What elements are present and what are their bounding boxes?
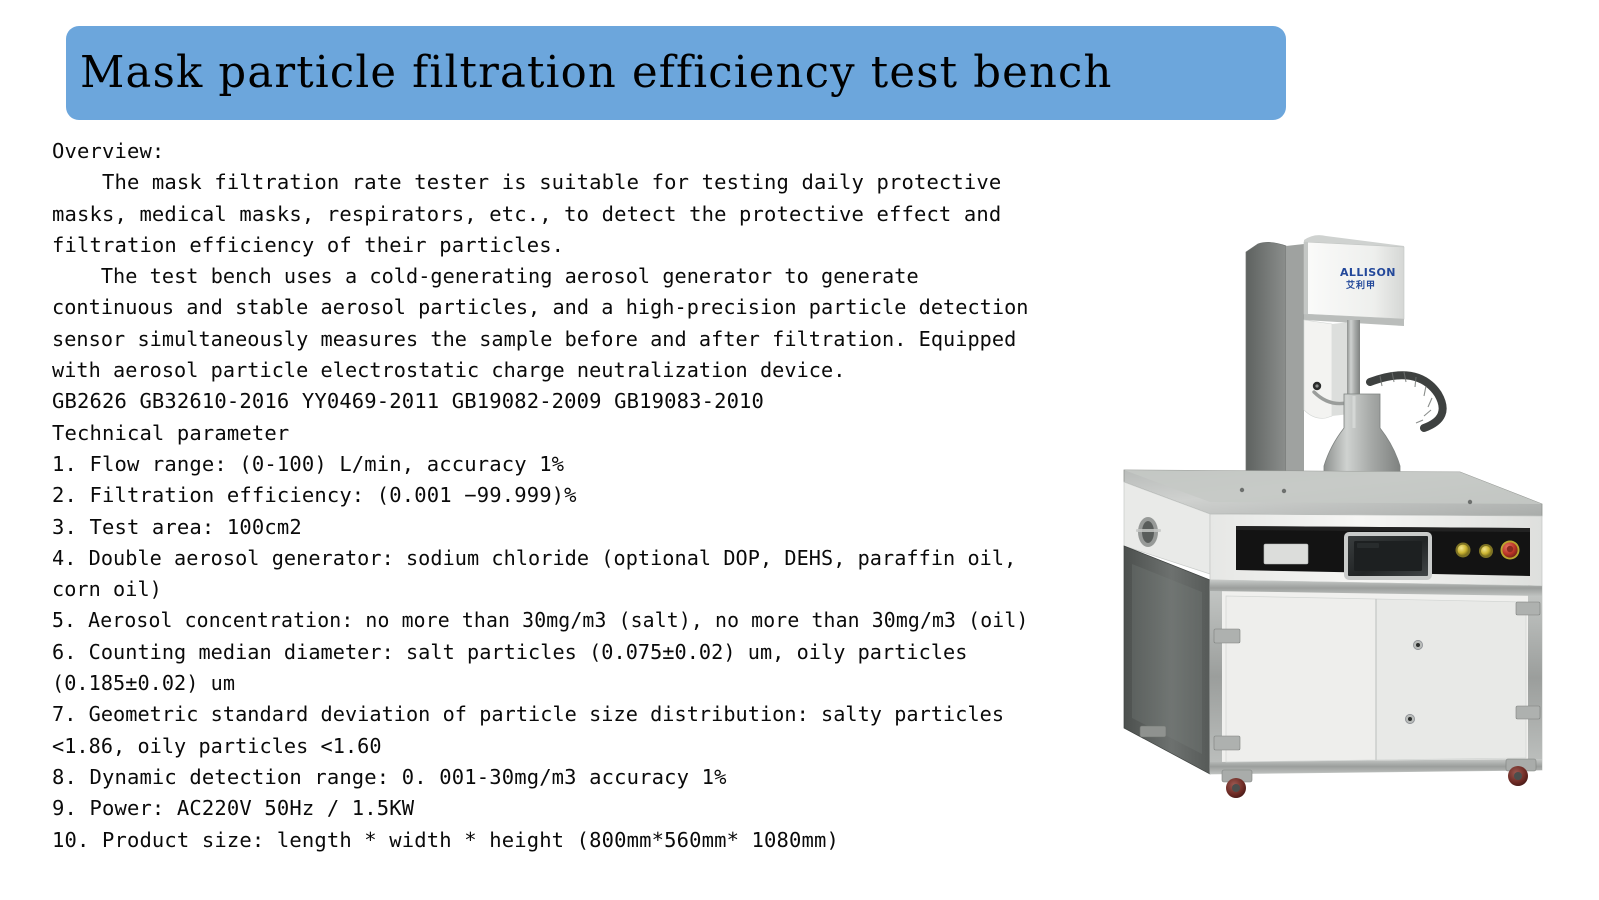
tech-param-item: 2. Filtration efficiency: (0.001 −99.999… <box>52 480 1122 511</box>
description-body: Overview: The mask filtration rate teste… <box>52 136 1122 856</box>
page-title: Mask particle filtration efficiency test… <box>80 51 1113 95</box>
machine-shaft <box>1347 320 1360 398</box>
cabinet-doors[interactable] <box>1226 596 1526 762</box>
tech-param-item: 4. Double aerosol generator: sodium chlo… <box>52 543 1106 606</box>
tech-param-item: 1. Flow range: (0-100) L/min, accuracy 1… <box>52 449 1122 480</box>
machine-caster <box>1140 726 1166 737</box>
technical-parameter-heading: Technical parameter <box>52 418 1122 449</box>
cabinet-door-lock[interactable] <box>1413 640 1422 649</box>
page-title-banner: Mask particle filtration efficiency test… <box>66 26 1286 120</box>
tech-param-item: 8. Dynamic detection range: 0. 001-30mg/… <box>52 762 1122 793</box>
overview-heading: Overview: <box>52 136 1122 167</box>
tech-param-item: 6. Counting median diameter: salt partic… <box>52 637 1106 700</box>
machine-head-housing: ALLISON 艾利甲 <box>1304 235 1404 326</box>
brand-logo-latin: ALLISON <box>1340 266 1396 279</box>
brand-logo-cjk: 艾利甲 <box>1346 279 1376 291</box>
tech-param-item: 3. Test area: 100cm2 <box>52 512 1122 543</box>
machine-caster <box>1506 759 1536 786</box>
panel-button-yellow-2[interactable] <box>1479 544 1493 558</box>
standards-line: GB2626 GB32610-2016 YY0469-2011 GB19082-… <box>52 386 1122 417</box>
tech-param-item: 7. Geometric standard deviation of parti… <box>52 699 1106 762</box>
product-photo: ALLISON 艾利甲 <box>1118 214 1548 804</box>
tech-param-item: 5. Aerosol concentration: no more than 3… <box>52 605 1085 636</box>
hmi-touchscreen[interactable] <box>1346 534 1430 578</box>
cabinet-door-lock[interactable] <box>1405 714 1414 723</box>
overview-paragraph-1: The mask filtration rate tester is suita… <box>52 167 1122 261</box>
tech-param-item: 10. Product size: length * width * heigh… <box>52 825 1122 856</box>
control-panel-label-plate <box>1264 544 1308 564</box>
tech-param-item: 9. Power: AC220V 50Hz / 1.5KW <box>52 793 1122 824</box>
emergency-stop-button[interactable] <box>1501 541 1520 560</box>
panel-button-yellow-1[interactable] <box>1456 543 1471 558</box>
machine-caster <box>1222 770 1252 798</box>
overview-paragraph-2: The test bench uses a cold-generating ae… <box>52 261 1106 386</box>
